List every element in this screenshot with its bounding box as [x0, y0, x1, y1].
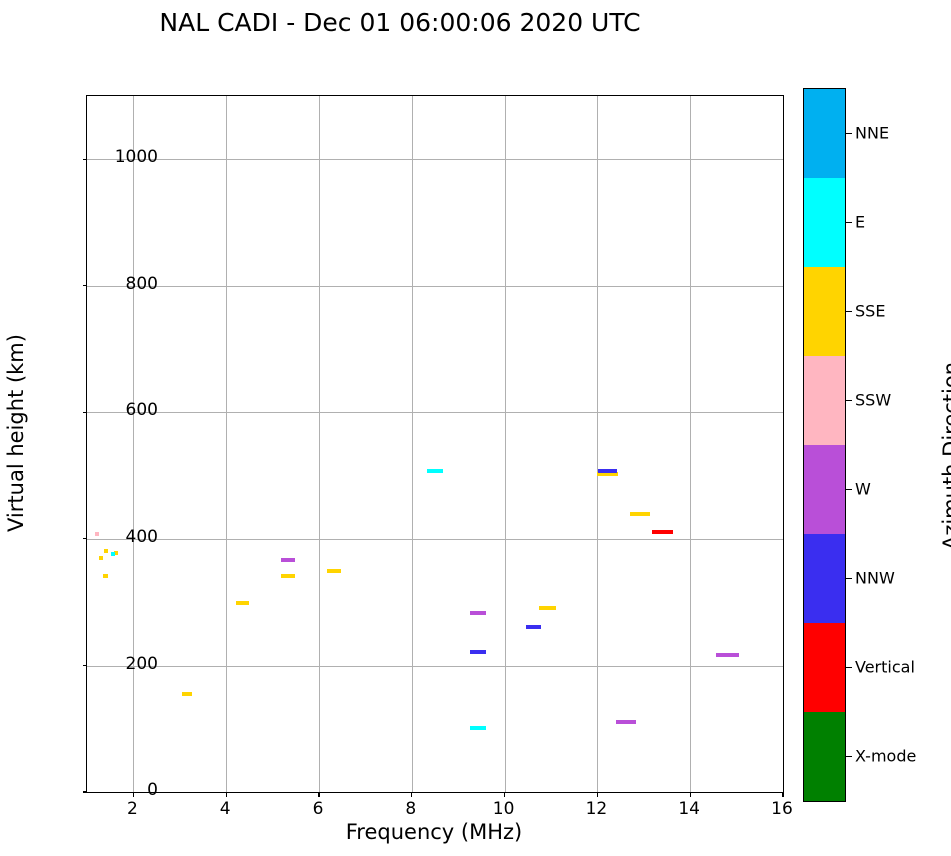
y-tick-label: 400 [126, 527, 158, 547]
echo-mark-nnw [598, 469, 618, 473]
colorbar-label-w: W [855, 479, 871, 498]
echo-mark-sse [327, 569, 341, 573]
x-tick-mark [411, 792, 412, 797]
echo-mark-sse [281, 574, 295, 578]
echo-mark-w [716, 653, 739, 657]
x-tick-label: 8 [405, 799, 416, 819]
colorbar-tick-mark [846, 489, 852, 490]
x-tick-mark [504, 792, 505, 797]
data-marks-layer [87, 96, 783, 792]
echo-mark-ssw [95, 532, 99, 536]
colorbar-title: Azimuth Direction [939, 100, 951, 812]
ionogram-figure: NAL CADI - Dec 01 06:00:06 2020 UTC 0200… [0, 0, 951, 856]
x-tick-mark [226, 792, 227, 797]
colorbar-tick-mark [846, 400, 852, 401]
colorbar-label-vertical: Vertical [855, 657, 915, 676]
colorbar-tick-mark [846, 222, 852, 223]
colorbar-label-x-mode: X-mode [855, 746, 916, 765]
x-tick-label: 12 [586, 799, 608, 819]
y-tick-mark [83, 159, 88, 160]
colorbar-label-sse: SSE [855, 301, 885, 320]
colorbar-label-e: E [855, 212, 865, 231]
y-tick-label: 600 [126, 400, 158, 420]
colorbar-segment-nne [804, 89, 845, 179]
y-tick-label: 200 [126, 654, 158, 674]
echo-mark-sse [104, 549, 108, 553]
x-tick-label: 6 [313, 799, 324, 819]
echo-mark-w [616, 720, 636, 724]
echo-mark-sse [99, 556, 103, 560]
colorbar-tick-mark [846, 578, 852, 579]
echo-mark-vertical [652, 530, 673, 534]
y-tick-mark [83, 791, 88, 792]
colorbar-label-nne: NNE [855, 123, 889, 142]
y-tick-mark [83, 538, 88, 539]
colorbar-segment-vertical [804, 623, 845, 713]
y-tick-label: 0 [147, 780, 158, 800]
plot-area [86, 95, 784, 793]
x-tick-label: 14 [678, 799, 700, 819]
y-axis-label: Virtual height (km) [4, 85, 28, 781]
colorbar-label-ssw: SSW [855, 390, 891, 409]
colorbar-segment-x-mode [804, 712, 845, 802]
y-tick-mark [83, 665, 88, 666]
x-axis-label: Frequency (MHz) [86, 820, 782, 844]
colorbar [803, 88, 846, 802]
x-tick-mark [690, 792, 691, 797]
colorbar-label-nnw: NNW [855, 568, 895, 587]
x-tick-label: 10 [493, 799, 515, 819]
colorbar-tick-mark [846, 756, 852, 757]
x-tick-mark [133, 792, 134, 797]
colorbar-segment-e [804, 178, 845, 268]
x-tick-mark [782, 792, 783, 797]
echo-mark-sse [539, 606, 557, 610]
y-tick-label: 800 [126, 274, 158, 294]
echo-mark-e [470, 726, 486, 730]
colorbar-tick-mark [846, 311, 852, 312]
colorbar-tick-mark [846, 133, 852, 134]
x-tick-mark [318, 792, 319, 797]
echo-mark-e [111, 552, 115, 556]
x-tick-label: 16 [771, 799, 793, 819]
echo-mark-nnw [470, 650, 486, 654]
echo-mark-sse [182, 692, 192, 696]
echo-mark-w [470, 611, 486, 615]
page-title: NAL CADI - Dec 01 06:00:06 2020 UTC [0, 8, 800, 37]
echo-mark-sse [630, 512, 650, 516]
y-tick-mark [83, 412, 88, 413]
colorbar-segment-ssw [804, 356, 845, 446]
colorbar-segment-sse [804, 267, 845, 357]
echo-mark-nnw [526, 625, 542, 629]
x-tick-label: 4 [220, 799, 231, 819]
colorbar-segment-nnw [804, 534, 845, 624]
echo-mark-sse [236, 601, 250, 605]
echo-mark-w [281, 558, 295, 562]
y-tick-label: 1000 [115, 147, 158, 167]
colorbar-tick-mark [846, 667, 852, 668]
colorbar-segment-w [804, 445, 845, 535]
echo-mark-sse [103, 574, 108, 578]
x-tick-label: 2 [127, 799, 138, 819]
y-tick-mark [83, 285, 88, 286]
x-tick-mark [597, 792, 598, 797]
echo-mark-e [427, 469, 443, 473]
